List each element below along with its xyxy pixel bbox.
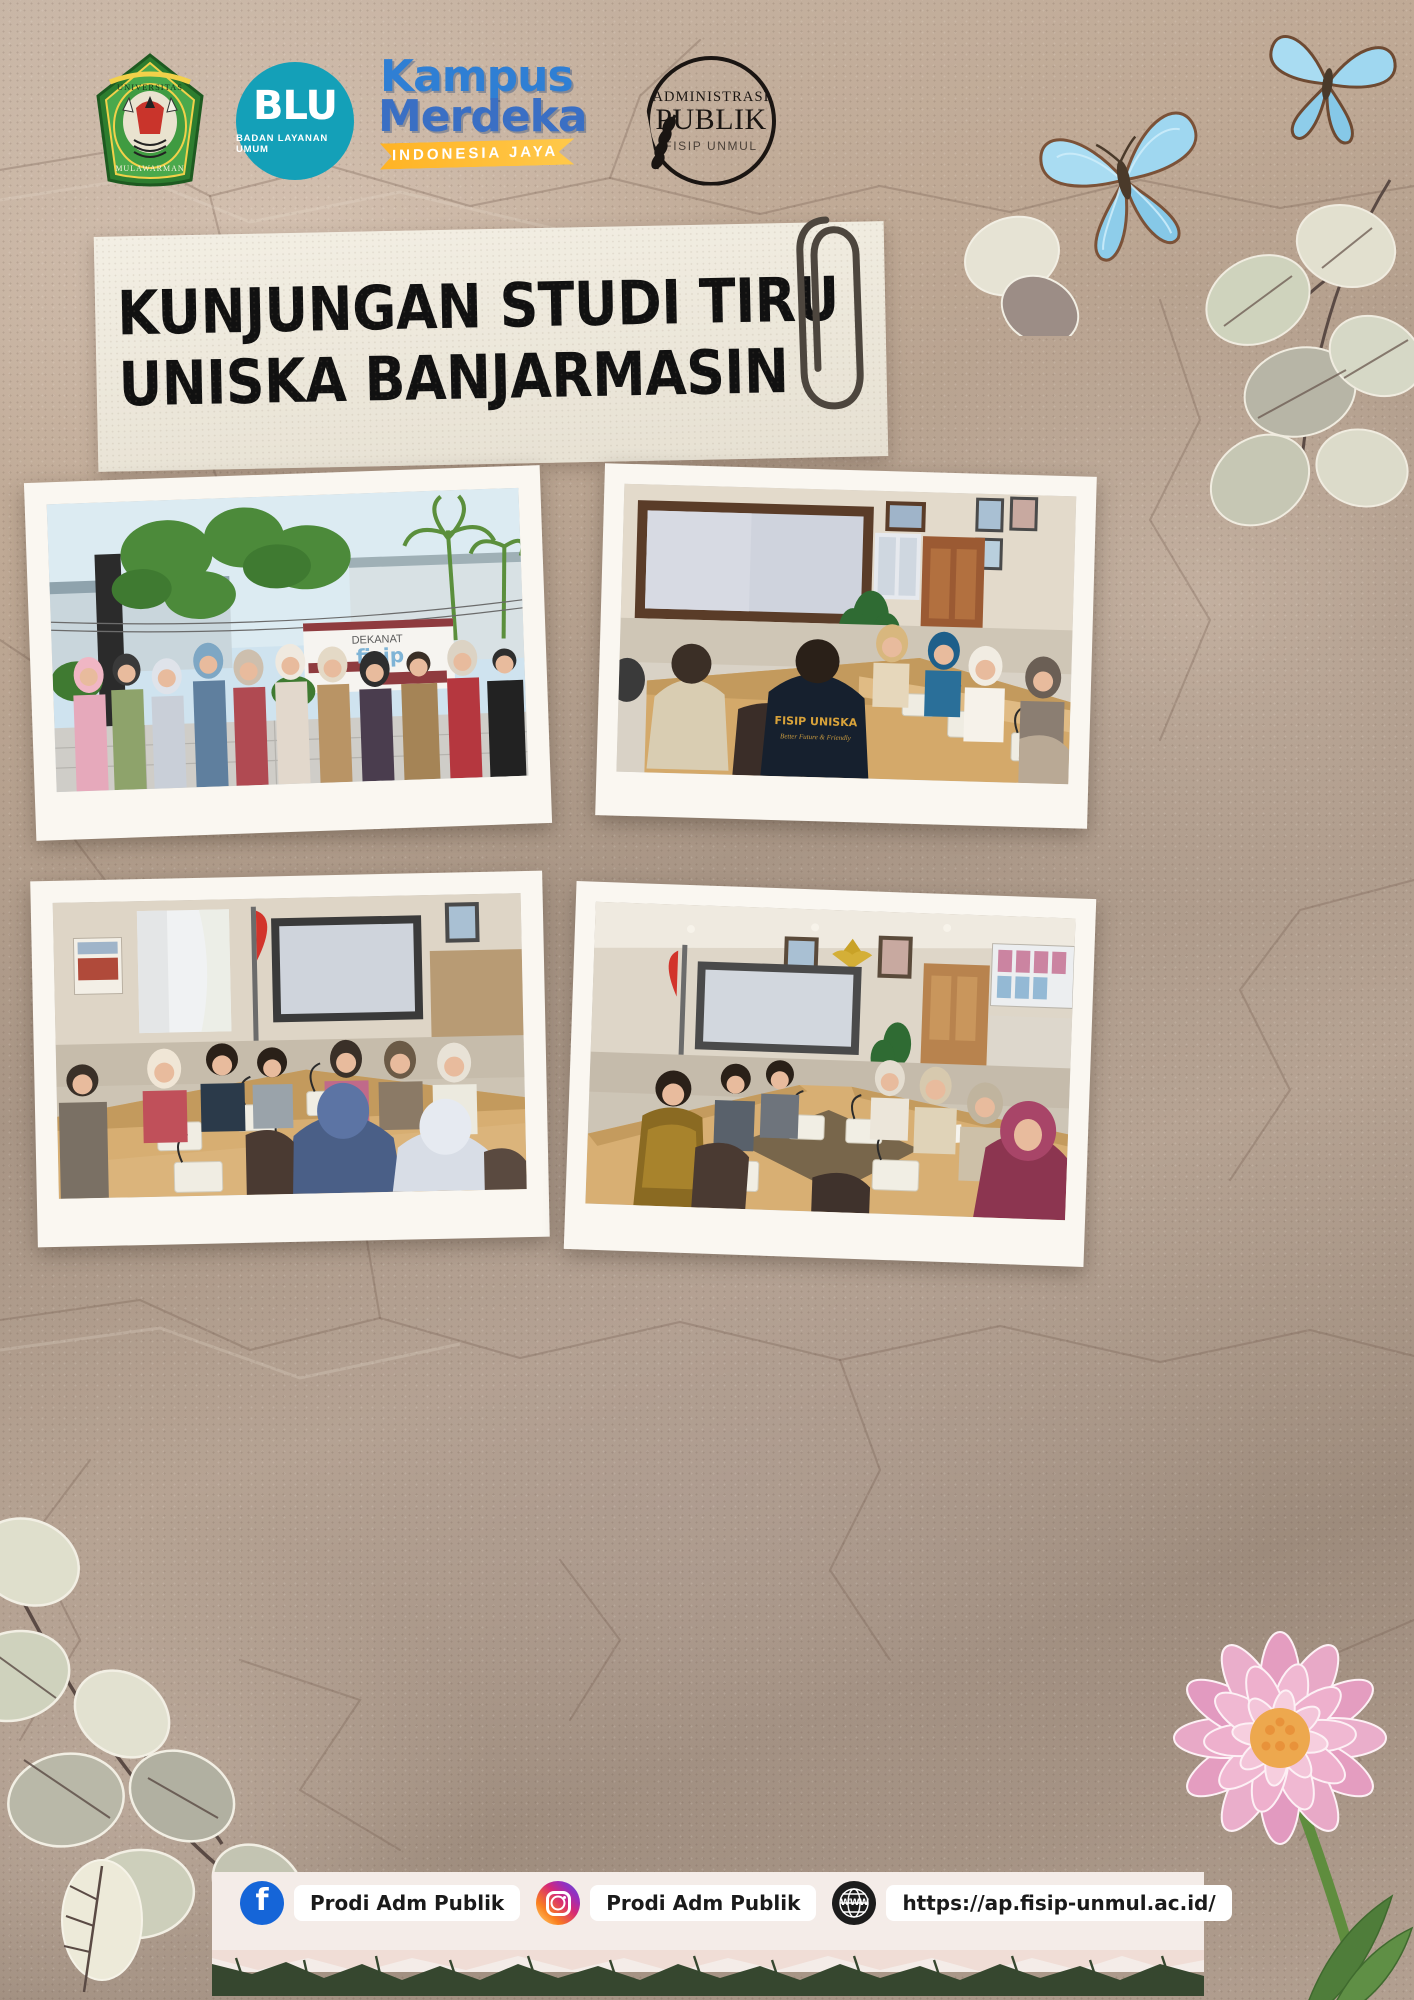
poster-canvas: UNIVERSITAS MULAWARMAN BLU BADAN LAYANAN…	[0, 0, 1414, 2000]
website-label: https://ap.fisip-unmul.ac.id/	[886, 1885, 1231, 1921]
photo-1-image: DEKANAT fisip	[47, 488, 529, 792]
kampus-merdeka-line2: Merdeka	[378, 97, 620, 137]
universitas-mulawarman-logo: UNIVERSITAS MULAWARMAN	[90, 52, 210, 190]
kampus-merdeka-ribbon: INDONESIA JAYA	[380, 139, 574, 170]
globe-www-icon: WWW	[832, 1881, 876, 1925]
instagram-label: Prodi Adm Publik	[590, 1885, 816, 1921]
title-line-1: KUNJUNGAN STUDI TIRU	[117, 265, 794, 350]
green-leaf-decor	[1296, 1880, 1414, 2000]
butterfly-icon-large	[1028, 88, 1218, 268]
kampus-merdeka-logo: Kampus Merdeka INDONESIA JAYA	[380, 57, 620, 185]
photo-2-image: FISIP UNISKA Better Future & Friendly	[616, 484, 1076, 785]
unmul-bottom-text: MULAWARMAN	[115, 164, 184, 173]
eucalyptus-leaf-footer-decor	[44, 1856, 164, 2000]
instagram-icon	[536, 1881, 580, 1925]
page-title: KUNJUNGAN STUDI TIRU UNISKA BANJARMASIN	[94, 221, 888, 422]
globe-icon-text: WWW	[840, 1898, 868, 1908]
facebook-label: Prodi Adm Publik	[294, 1885, 520, 1921]
paperclip-icon	[793, 211, 866, 413]
photo-3-image	[53, 893, 527, 1199]
logo-row: UNIVERSITAS MULAWARMAN BLU BADAN LAYANAN…	[90, 48, 790, 193]
footer-bar: f Prodi Adm Publik Prodi Adm Publik	[212, 1872, 1204, 1972]
svg-text:FISIP UNISKA: FISIP UNISKA	[774, 714, 858, 729]
blu-wordmark: BLU	[253, 86, 337, 126]
photo-meeting-room-wide-left[interactable]	[30, 871, 550, 1248]
photo-meeting-room-wide-right[interactable]	[564, 881, 1097, 1267]
photo-group-outside-dekanat-fisip[interactable]: DEKANAT fisip	[24, 465, 552, 841]
photo-4-image	[585, 902, 1075, 1221]
unmul-top-text: UNIVERSITAS	[117, 82, 183, 92]
wheat-icon	[648, 111, 682, 178]
butterfly-icon-small	[1252, 18, 1404, 153]
kampus-merdeka-ribbon-text: INDONESIA JAYA	[392, 143, 558, 164]
footer-facebook[interactable]: f Prodi Adm Publik	[240, 1881, 520, 1925]
footer-website[interactable]: WWW https://ap.fisip-unmul.ac.id/	[832, 1881, 1231, 1925]
administrasi-publik-logo: ADMINISTRASI PUBLIK FISIP UNMUL	[646, 56, 776, 186]
blu-subtitle: BADAN LAYANAN UMUM	[236, 133, 354, 155]
grass-torn-edge-decor	[212, 1950, 1204, 1994]
title-line-2: UNISKA BANJARMASIN	[118, 336, 795, 421]
blu-logo: BLU BADAN LAYANAN UMUM	[236, 62, 354, 180]
footer-social-row: f Prodi Adm Publik Prodi Adm Publik	[212, 1872, 1204, 1934]
facebook-icon: f	[240, 1881, 284, 1925]
footer-instagram[interactable]: Prodi Adm Publik	[536, 1881, 816, 1925]
title-card: KUNJUNGAN STUDI TIRU UNISKA BANJARMASIN	[94, 221, 889, 472]
photo-meeting-room-uniska-jacket[interactable]: FISIP UNISKA Better Future & Friendly	[595, 463, 1097, 829]
